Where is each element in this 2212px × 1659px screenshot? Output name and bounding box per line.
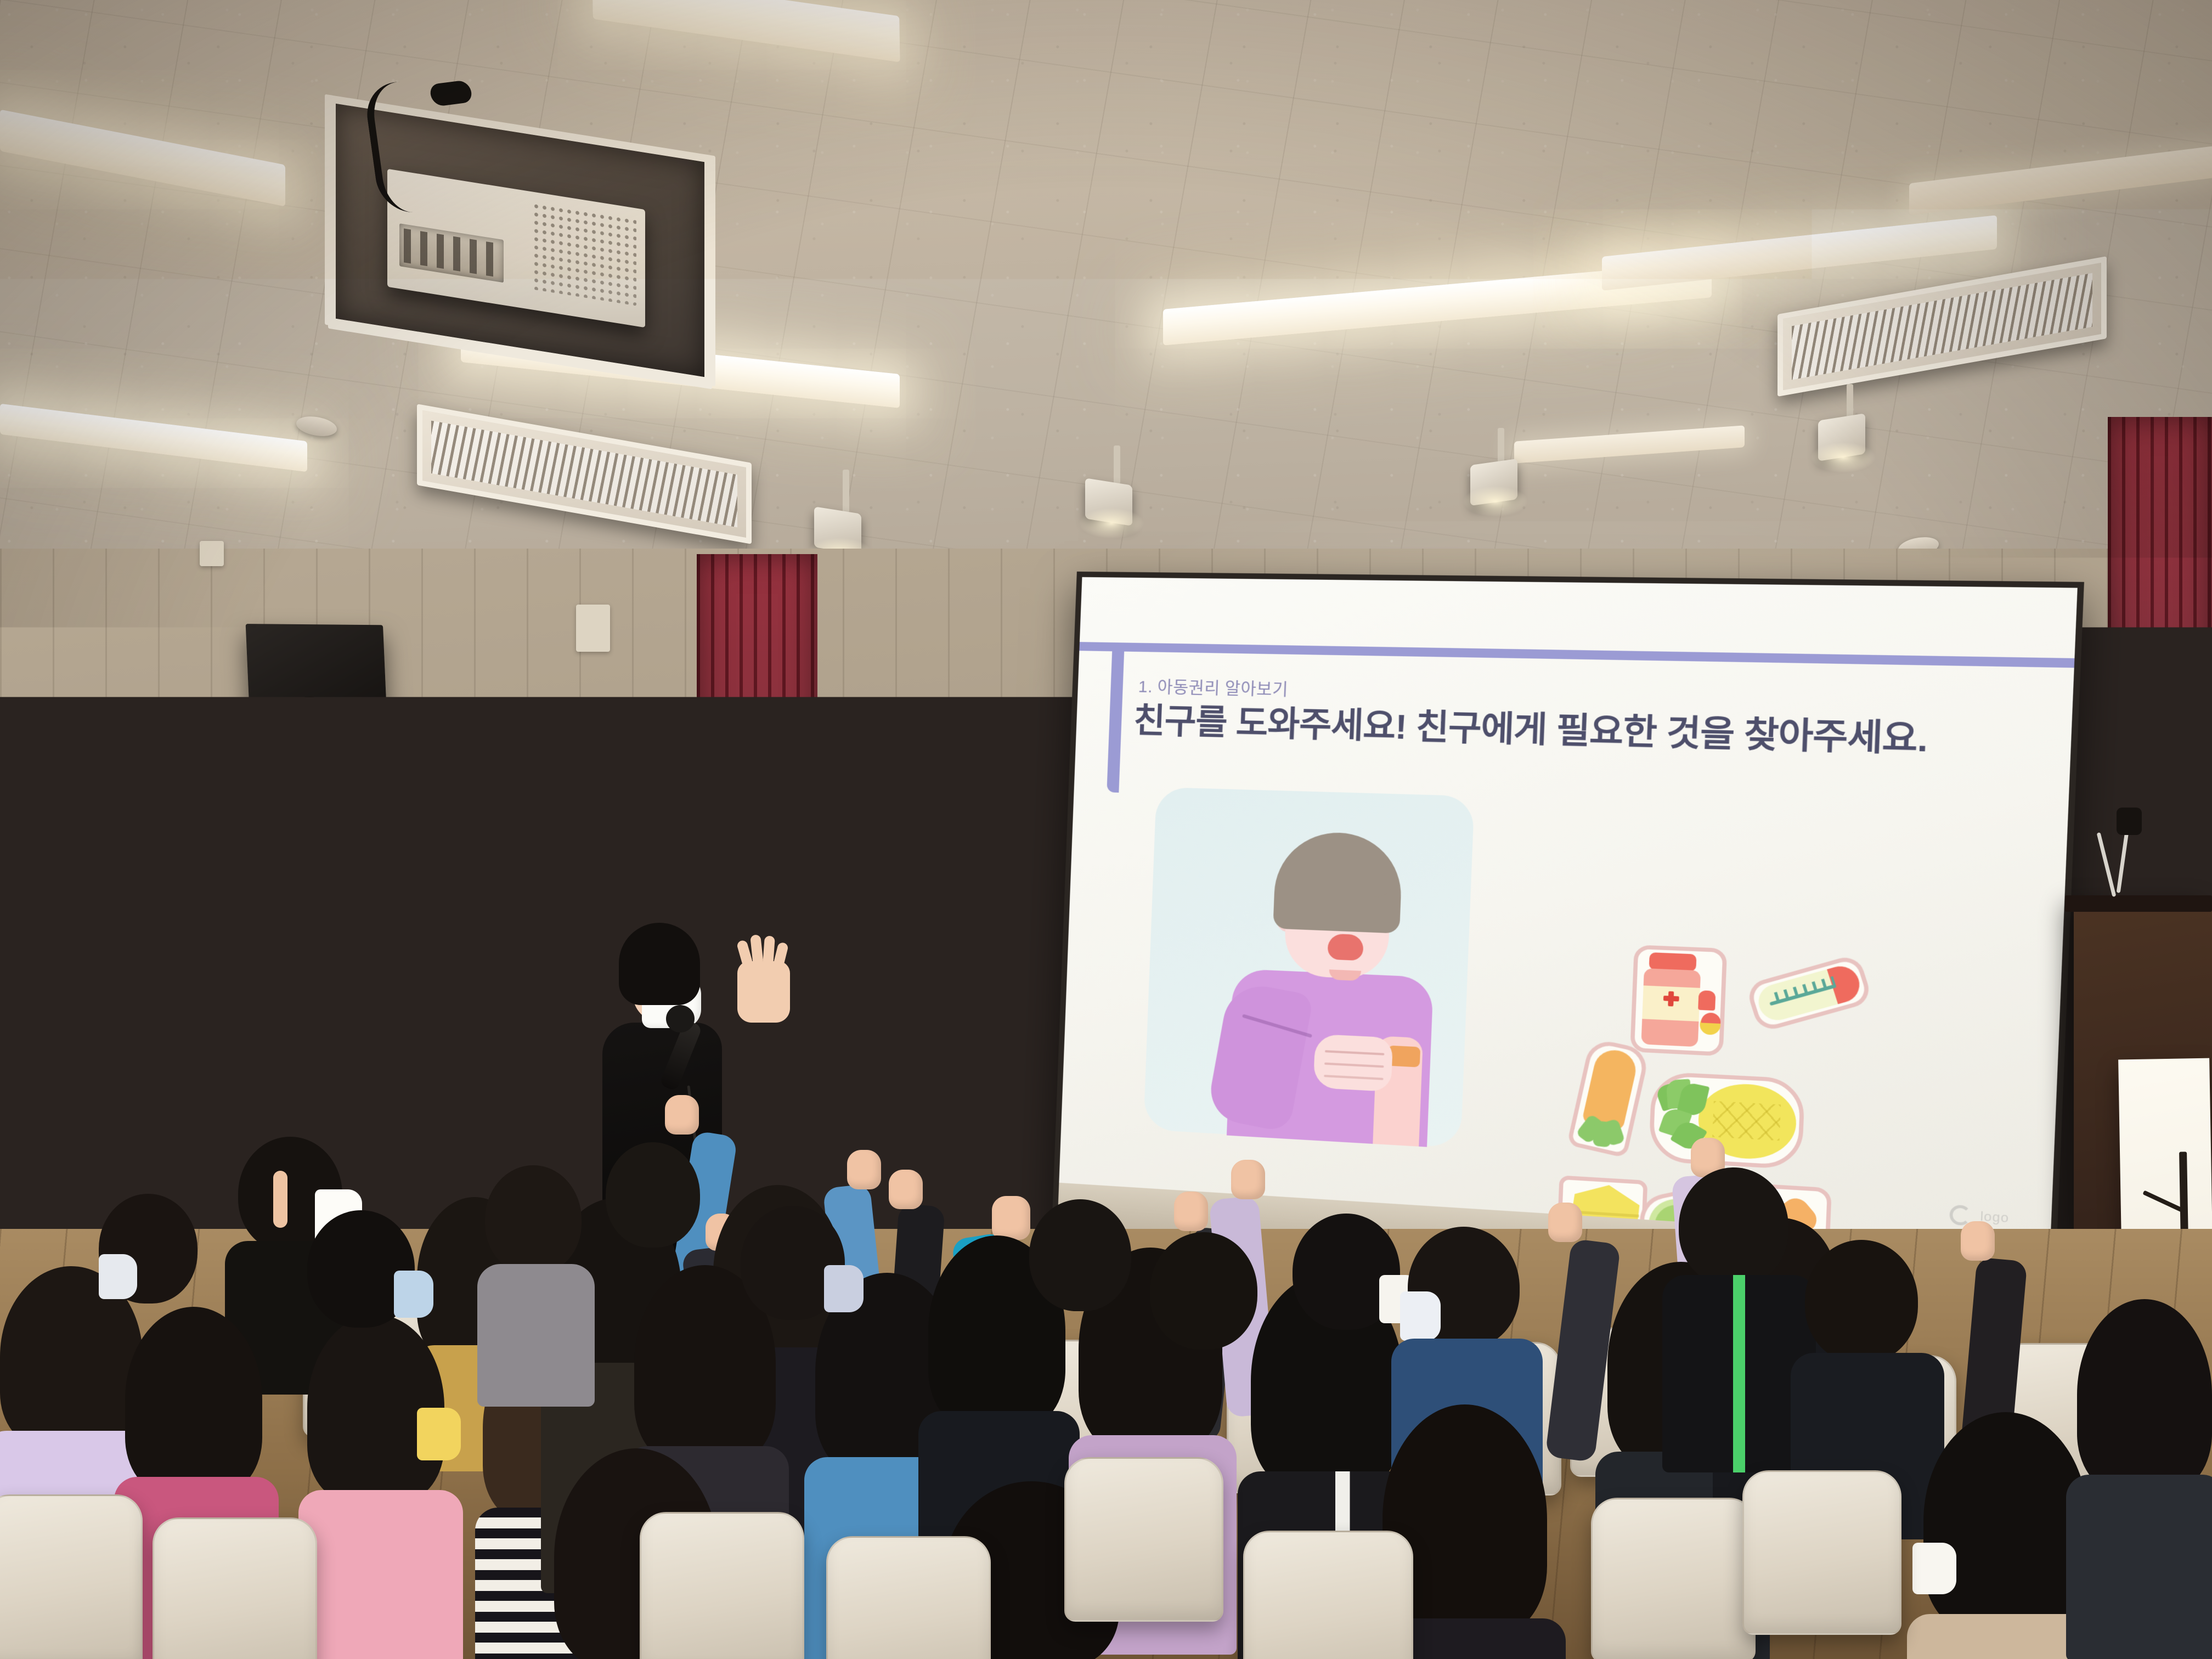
student-hair: [2077, 1299, 2212, 1491]
door-handle[interactable]: [905, 949, 917, 982]
microphone-head: [2117, 808, 2142, 835]
student-torso: [477, 1264, 595, 1407]
face-mask: [99, 1254, 137, 1299]
chair[interactable]: [1064, 1457, 1223, 1622]
spotlight-arm: [843, 470, 849, 512]
raised-fist: [1174, 1192, 1208, 1231]
raised-fist: [889, 1170, 923, 1209]
spotlight-arm: [1847, 384, 1853, 419]
spotlight-arm: [1114, 445, 1120, 484]
chair[interactable]: [1742, 1470, 1901, 1635]
chair[interactable]: [0, 1494, 143, 1659]
chair[interactable]: [826, 1536, 991, 1659]
sticker-carrot: [1575, 1046, 1642, 1150]
chair[interactable]: [640, 1512, 804, 1659]
raised-finger: [273, 1171, 287, 1228]
raised-fist: [665, 1095, 699, 1135]
poster-leaf: [404, 1203, 432, 1227]
student-head: [1805, 1240, 1918, 1363]
face-mask: [1400, 1291, 1441, 1341]
sticker-thermometer: [1754, 962, 1864, 1025]
chair[interactable]: [1243, 1531, 1413, 1659]
sticker-pineapple: [1656, 1079, 1797, 1163]
student-head: [1150, 1232, 1257, 1350]
student-head: [485, 1165, 582, 1274]
chair[interactable]: [153, 1517, 317, 1659]
face-mask: [1912, 1543, 1956, 1594]
student-torso: [2066, 1475, 2212, 1659]
face-mask: [417, 1408, 461, 1460]
door-panel: [888, 744, 1011, 1223]
face-mask: [824, 1265, 864, 1312]
sticker-medicine-bottle: [1638, 952, 1720, 1049]
student-hair: [1923, 1412, 2088, 1632]
illustration-card: [1143, 787, 1475, 1148]
auditorium-scene: 1. 아동권리 알아보기 친구를 도와주세요! 친구에게 필요한 것을 찾아주세…: [0, 0, 2212, 1659]
projection-screen: 1. 아동권리 알아보기 친구를 도와주세요! 친구에게 필요한 것을 찾아주세…: [1052, 572, 2084, 1297]
raised-fist: [847, 1150, 881, 1189]
spotlight-glow: [1810, 442, 1876, 473]
projector-ports: [399, 223, 504, 283]
spotlight-glow: [1079, 508, 1144, 539]
boy-hand: [1313, 1034, 1393, 1092]
chair[interactable]: [1591, 1498, 1756, 1659]
wall-outlet-plate: [200, 541, 224, 566]
lectern-top-surface: [2065, 895, 2212, 912]
slide-title: 친구를 도와주세요! 친구에게 필요한 것을 찾아주세요.: [1133, 692, 2047, 765]
projector-mount-arm: [325, 94, 334, 326]
raised-fist: [1961, 1221, 1995, 1261]
presenter-hair: [619, 923, 700, 1005]
presentation-slide: 1. 아동권리 알아보기 친구를 도와주세요! 친구에게 필요한 것을 찾아주세…: [1059, 577, 2077, 1245]
student-head: [1679, 1167, 1788, 1286]
student-head: [606, 1142, 700, 1248]
spotlight-arm: [1498, 428, 1504, 464]
slide-accent-bar: [1079, 642, 2074, 668]
raised-fist: [992, 1196, 1030, 1240]
wall-control-panel: [576, 605, 610, 652]
alarm-light: [433, 779, 467, 813]
student-torso: [298, 1490, 463, 1659]
face-mask: [394, 1271, 433, 1318]
tree-branch: [2142, 1190, 2184, 1213]
speaker-badge: [310, 771, 329, 788]
presenter-finger: [763, 935, 775, 966]
microphone-head: [666, 1005, 695, 1032]
raised-fist: [1548, 1203, 1582, 1242]
slide-accent-bracket: [1107, 649, 1124, 793]
auditorium-door[interactable]: [872, 730, 1026, 1223]
projector-mount-arm: [707, 155, 715, 387]
cabinet-top-panel: [71, 1118, 422, 1159]
presenter-open-hand: [737, 961, 790, 1023]
spotlight-glow: [1463, 486, 1528, 517]
boy-mouth: [1327, 934, 1363, 961]
projector-vent: [532, 201, 636, 306]
boy-hair-fringe: [1284, 869, 1395, 898]
raised-fist: [1231, 1160, 1265, 1199]
student-hair: [125, 1307, 262, 1493]
wall-outlet-plate: [563, 1015, 590, 1053]
student-head: [1029, 1199, 1131, 1311]
wall-speaker: [246, 624, 391, 806]
